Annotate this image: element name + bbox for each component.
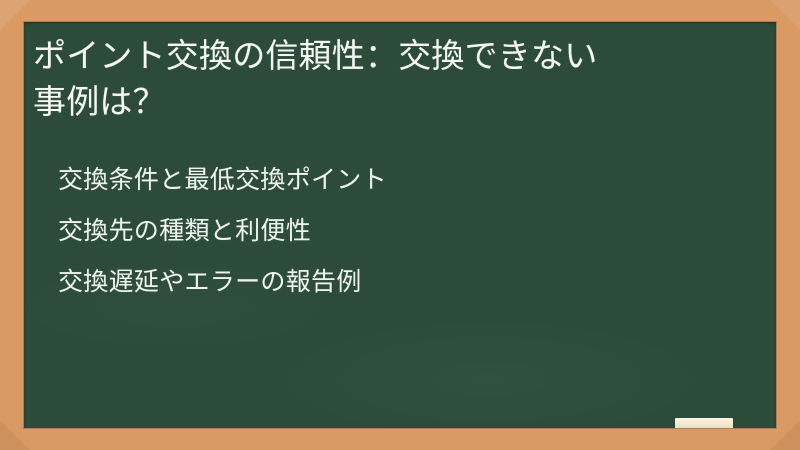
list-item: 交換遅延やエラーの報告例 [58,257,760,308]
chalk-stick-icon [675,418,733,428]
blackboard-surface: ポイント交換の信頼性：交換できない 事例は？ 交換条件と最低交換ポイント 交換先… [24,22,776,428]
list-item: 交換先の種類と利便性 [58,206,760,257]
blackboard-frame: ポイント交換の信頼性：交換できない 事例は？ 交換条件と最低交換ポイント 交換先… [0,0,800,450]
board-title: ポイント交換の信頼性：交換できない 事例は？ [33,33,760,125]
list-item: 交換条件と最低交換ポイント [58,155,760,206]
board-content: ポイント交換の信頼性：交換できない 事例は？ 交換条件と最低交換ポイント 交換先… [24,22,776,428]
topic-list: 交換条件と最低交換ポイント 交換先の種類と利便性 交換遅延やエラーの報告例 [33,155,760,308]
